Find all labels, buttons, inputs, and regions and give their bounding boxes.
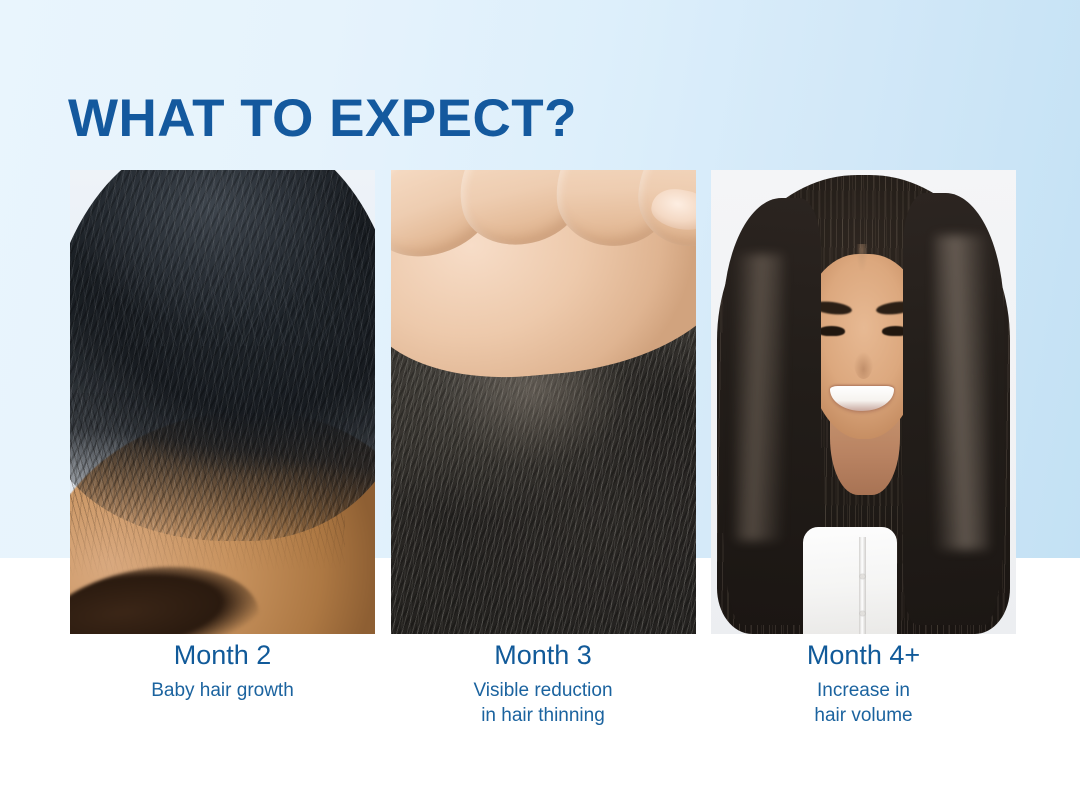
timeline-caption-row: Month 2 Baby hair growth Month 3 Visible… bbox=[70, 638, 1016, 748]
caption-description: Visible reduction in hair thinning bbox=[391, 678, 696, 728]
timeline-photo-month-2 bbox=[70, 170, 375, 634]
hair-shine-left bbox=[735, 254, 784, 542]
eye-left-shape bbox=[818, 326, 845, 336]
hair-part-shape bbox=[856, 244, 868, 276]
caption-description: Increase in hair volume bbox=[711, 678, 1016, 728]
caption-description: Baby hair growth bbox=[70, 678, 375, 703]
timeline-image-row bbox=[70, 170, 1016, 634]
caption-title: Month 2 bbox=[70, 638, 375, 672]
infographic-slide: WHAT TO EXPECT? bbox=[0, 0, 1080, 810]
caption-title: Month 4+ bbox=[711, 638, 1016, 672]
caption-month-3: Month 3 Visible reduction in hair thinni… bbox=[391, 638, 696, 748]
top-placket-shape bbox=[859, 537, 866, 634]
page-title: WHAT TO EXPECT? bbox=[68, 88, 577, 150]
caption-month-2: Month 2 Baby hair growth bbox=[70, 638, 375, 748]
caption-month-4-plus: Month 4+ Increase in hair volume bbox=[711, 638, 1016, 748]
timeline-photo-month-3 bbox=[391, 170, 696, 634]
hair-shine-right bbox=[934, 235, 989, 551]
stray-hair-wisps bbox=[94, 170, 375, 346]
nose-shape bbox=[854, 346, 872, 378]
white-top-shape bbox=[803, 527, 898, 634]
caption-title: Month 3 bbox=[391, 638, 696, 672]
timeline-photo-month-4-plus bbox=[711, 170, 1016, 634]
